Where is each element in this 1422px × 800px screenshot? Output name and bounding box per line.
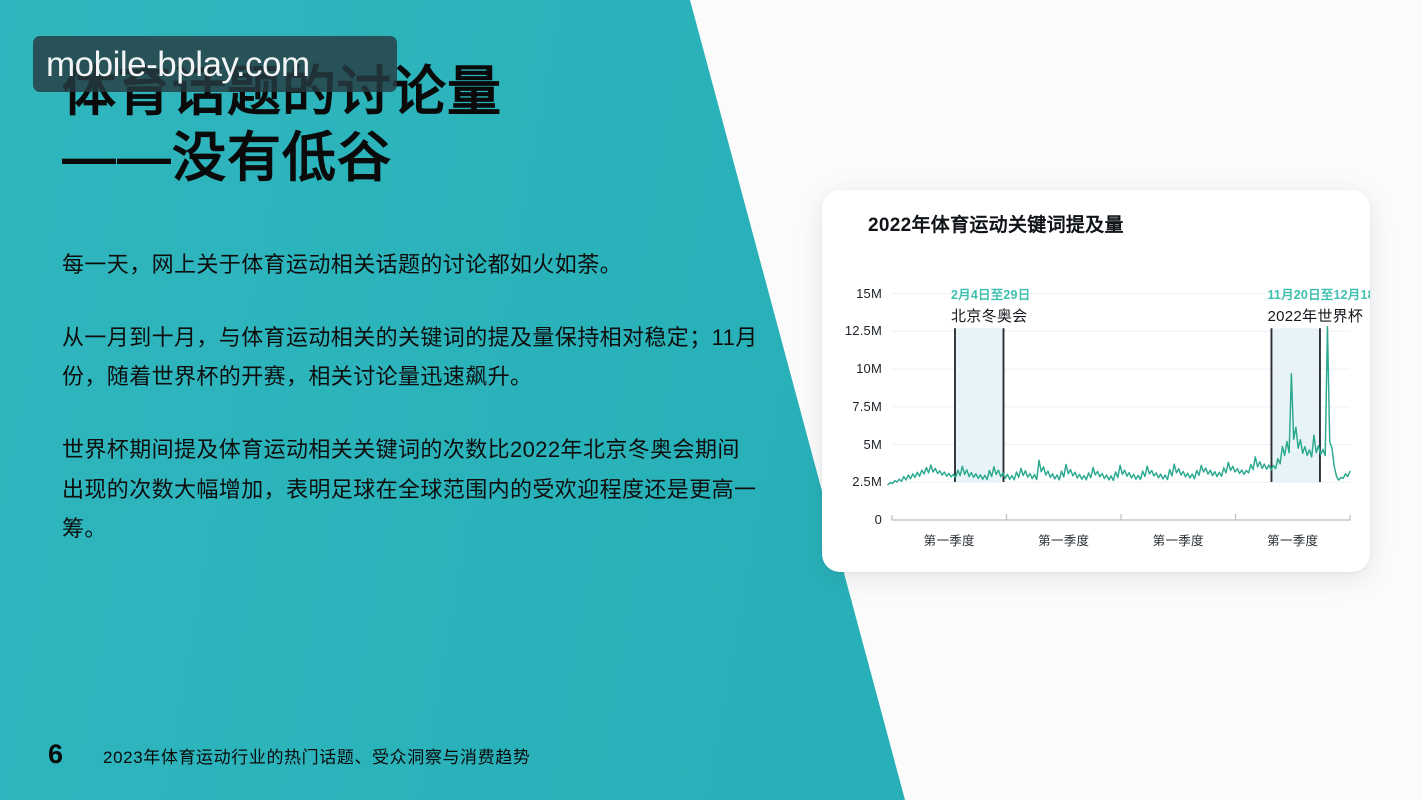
- slide-root: 体育话题的讨论量 ——没有低谷 mobile-bplay.com 每一天，网上关…: [0, 0, 1422, 800]
- chart-y-tick-label: 15M: [856, 286, 882, 301]
- paragraph-3: 世界杯期间提及体育运动相关关键词的次数比2022年北京冬奥会期间出现的次数大幅增…: [62, 430, 762, 547]
- chart-x-tick-label: 第一季度: [892, 530, 1007, 549]
- chart-x-tick-label: 第一季度: [1236, 530, 1351, 549]
- watermark-badge: mobile-bplay.com: [33, 36, 397, 92]
- footer-title: 2023年体育运动行业的热门话题、受众洞察与消费趋势: [103, 743, 530, 768]
- chart-y-tick-label: 10M: [856, 361, 882, 376]
- annotation-label: 2022年世界杯: [1267, 305, 1370, 326]
- watermark-text: mobile-bplay.com: [46, 47, 310, 82]
- chart-x-tick-label: 第一季度: [1121, 530, 1236, 549]
- paragraph-1: 每一天，网上关于体育运动相关话题的讨论都如火如荼。: [62, 245, 762, 284]
- footer: 6 2023年体育运动行业的热门话题、受众洞察与消费趋势: [48, 739, 530, 770]
- chart-card: 2022年体育运动关键词提及量 2月4日至29日 北京冬奥会 11月20日至12…: [822, 190, 1370, 572]
- annotation-date-range: 2月4日至29日: [951, 284, 1030, 303]
- chart-x-tick-label: 第一季度: [1007, 530, 1122, 549]
- chart-annotation-worldcup: 11月20日至12月18日 2022年世界杯: [1267, 284, 1370, 326]
- slide-title-line-2: ——没有低谷: [62, 126, 702, 192]
- annotation-date-range: 11月20日至12月18日: [1267, 284, 1370, 303]
- chart-highlight-band-0: [955, 328, 1004, 482]
- chart-plot-area: [822, 190, 1370, 572]
- paragraph-2: 从一月到十月，与体育运动相关的关键词的提及量保持相对稳定；11月份，随着世界杯的…: [62, 318, 762, 396]
- chart-y-tick-label: 5M: [864, 437, 882, 452]
- body-copy: 每一天，网上关于体育运动相关话题的讨论都如火如荼。 从一月到十月，与体育运动相关…: [62, 245, 762, 548]
- chart-y-tick-label: 7.5M: [852, 399, 882, 414]
- chart-annotation-olympics: 2月4日至29日 北京冬奥会: [951, 284, 1030, 326]
- chart-y-tick-label: 0: [875, 512, 882, 527]
- chart-y-tick-label: 12.5M: [845, 323, 882, 338]
- annotation-label: 北京冬奥会: [951, 305, 1030, 326]
- page-number: 6: [48, 739, 63, 770]
- chart-y-tick-label: 2.5M: [852, 474, 882, 489]
